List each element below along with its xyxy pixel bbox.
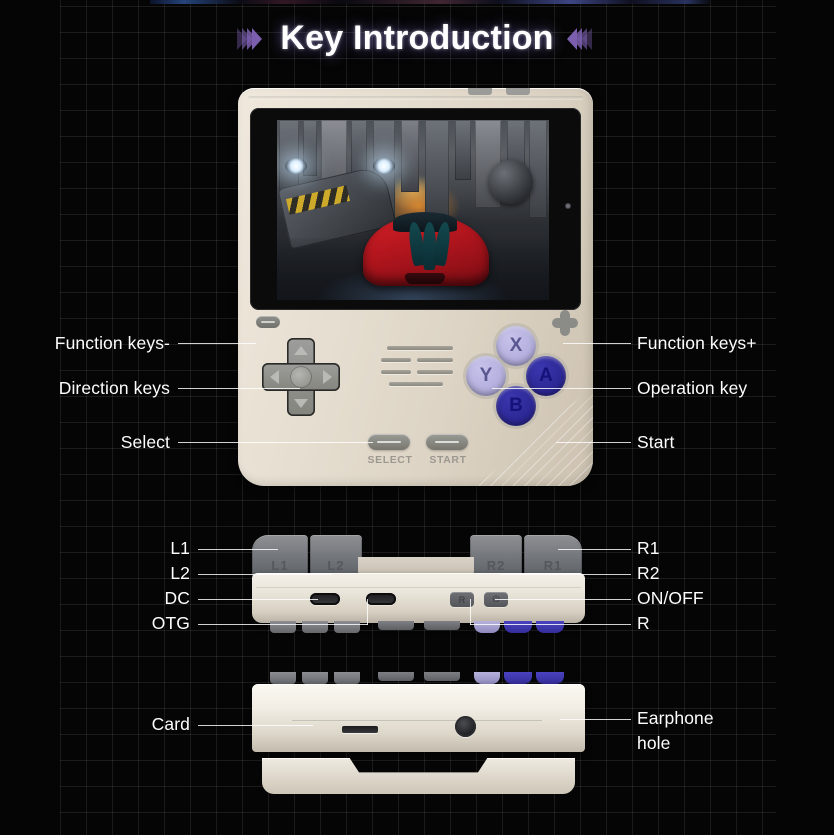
leader-earphone <box>560 719 631 720</box>
leader-card <box>198 725 313 726</box>
button-x[interactable]: X <box>496 326 536 366</box>
bottom-foot <box>262 758 575 794</box>
select-button-label: SELECT <box>362 454 418 466</box>
hinge-nub-right <box>506 88 530 95</box>
label-r-small: R <box>637 613 650 634</box>
select-button[interactable] <box>368 434 410 450</box>
dpad[interactable] <box>262 338 340 416</box>
earphone-hole[interactable] <box>455 716 476 737</box>
shoulder-l1[interactable]: L1 <box>252 535 308 577</box>
leader-on-off <box>495 599 631 600</box>
headlight-right <box>373 158 395 174</box>
label-l2: L2 <box>60 563 190 584</box>
label-function-keys-minus: Function keys- <box>20 333 170 354</box>
label-dc: DC <box>60 588 190 609</box>
red-sports-car <box>363 216 489 286</box>
leader-function-keys-plus <box>563 343 631 344</box>
card-slot[interactable] <box>342 726 378 733</box>
top-groove <box>248 96 583 100</box>
sensor-dot <box>565 203 571 209</box>
shoulder-button-row: L1 L2 R2 R1 <box>252 531 585 577</box>
leader-r2 <box>500 574 631 575</box>
leader-direction-keys <box>178 388 300 389</box>
top-color-strip <box>150 0 710 4</box>
wrecking-ball <box>489 160 533 204</box>
function-minus-button[interactable] <box>256 316 280 328</box>
leader-otg <box>198 624 368 625</box>
leader-function-keys-minus <box>178 343 256 344</box>
leader-dc <box>198 599 318 600</box>
leader-r-small-riser <box>470 599 471 625</box>
function-plus-button[interactable] <box>552 310 578 336</box>
bottom-body-seam <box>292 720 542 721</box>
shoulder-l2[interactable]: L2 <box>310 535 362 577</box>
label-l1: L1 <box>60 538 190 559</box>
label-start: Start <box>637 432 674 453</box>
label-on-off: ON/OFF <box>637 588 704 609</box>
otg-usbc-port[interactable] <box>366 593 396 605</box>
leader-l2 <box>198 574 332 575</box>
shoulder-r1[interactable]: R1 <box>524 535 582 577</box>
console-front-view: X Y A B SELECT START <box>238 88 593 486</box>
top-edge-body: R ⏻ <box>252 573 585 623</box>
dpad-left-icon[interactable] <box>270 370 279 384</box>
leader-r1 <box>558 549 631 550</box>
leader-r-small <box>470 624 631 625</box>
dpad-up-icon[interactable] <box>294 346 308 355</box>
leader-select <box>178 442 373 443</box>
chevron-right-group-icon <box>242 28 262 50</box>
button-a[interactable]: A <box>526 356 566 396</box>
start-button[interactable] <box>426 434 468 450</box>
hinge-nub-left <box>468 88 492 95</box>
label-direction-keys: Direction keys <box>20 378 170 399</box>
screen-bezel <box>250 108 581 310</box>
button-b[interactable]: B <box>496 386 536 426</box>
label-function-keys-plus: Function keys+ <box>637 333 757 354</box>
bottom-edge-body <box>252 684 585 752</box>
label-r1: R1 <box>637 538 660 559</box>
shoulder-r2[interactable]: R2 <box>470 535 522 577</box>
body-seam <box>256 587 581 588</box>
console-bottom-edge-view <box>252 672 585 794</box>
label-operation-key: Operation key <box>637 378 747 399</box>
button-y[interactable]: Y <box>466 356 506 396</box>
game-screen-artwork <box>277 120 549 300</box>
console-top-edge-view: L1 L2 R2 R1 R ⏻ <box>252 531 585 637</box>
leader-l1 <box>198 549 278 550</box>
label-earphone-hole: hole <box>637 733 671 754</box>
label-select: Select <box>20 432 170 453</box>
headlight-left <box>285 158 307 174</box>
dpad-down-icon[interactable] <box>294 399 308 408</box>
label-otg: OTG <box>55 613 190 634</box>
start-button-label: START <box>422 454 474 466</box>
dpad-right-icon[interactable] <box>323 370 332 384</box>
page-title-row: Key Introduction <box>0 19 834 58</box>
leader-otg-riser <box>367 599 368 625</box>
label-card: Card <box>50 714 190 735</box>
label-earphone: Earphone <box>637 708 714 729</box>
leader-operation-key <box>492 388 631 389</box>
chevron-left-group-icon <box>572 28 592 50</box>
leader-start <box>556 442 631 443</box>
label-r2: R2 <box>637 563 660 584</box>
page-title: Key Introduction <box>280 19 553 58</box>
speaker-grille <box>381 346 453 386</box>
screw-right <box>460 764 465 769</box>
